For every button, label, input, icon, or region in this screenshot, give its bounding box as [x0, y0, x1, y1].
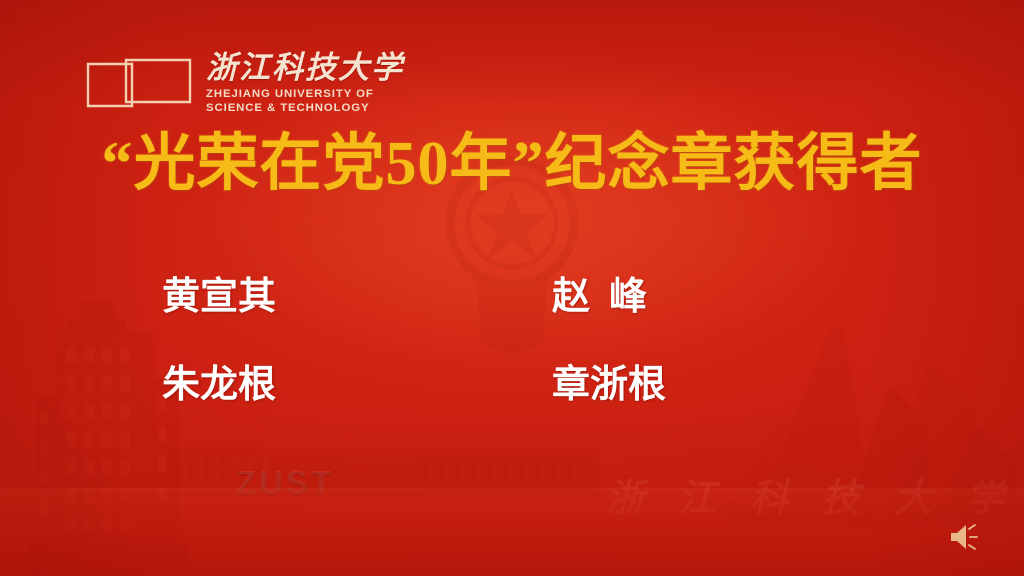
honoree-name: 黄宣其	[142, 277, 492, 319]
speaker-audio-icon[interactable]	[948, 522, 982, 552]
university-name-en-line1: ZHEJIANG UNIVERSITY OF	[206, 89, 404, 100]
slide-title: “光荣在党50年”纪念章获得者	[0, 131, 1024, 198]
honoree-name: 赵 峰	[492, 277, 882, 319]
university-name-cn: 浙江科技大学	[206, 52, 404, 83]
honoree-row: 黄宣其 赵 峰	[0, 277, 1024, 319]
honoree-row: 朱龙根 章浙根	[0, 365, 1024, 407]
university-name-en-line2: SCIENCE & TECHNOLOGY	[206, 103, 404, 114]
university-logo-text: 浙江科技大学 ZHEJIANG UNIVERSITY OF SCIENCE & …	[206, 52, 404, 115]
zust-rectangles-mark-icon	[86, 58, 192, 112]
presentation-slide: ZUST 浙 江 科 技 大 学 浙江科技大学 ZHEJIANG UNIVERS…	[0, 0, 1024, 576]
honoree-name: 朱龙根	[142, 365, 492, 407]
honoree-name: 章浙根	[492, 365, 882, 407]
honoree-list: 黄宣其 赵 峰 朱龙根 章浙根	[0, 277, 1024, 407]
university-logo: 浙江科技大学 ZHEJIANG UNIVERSITY OF SCIENCE & …	[86, 52, 404, 115]
